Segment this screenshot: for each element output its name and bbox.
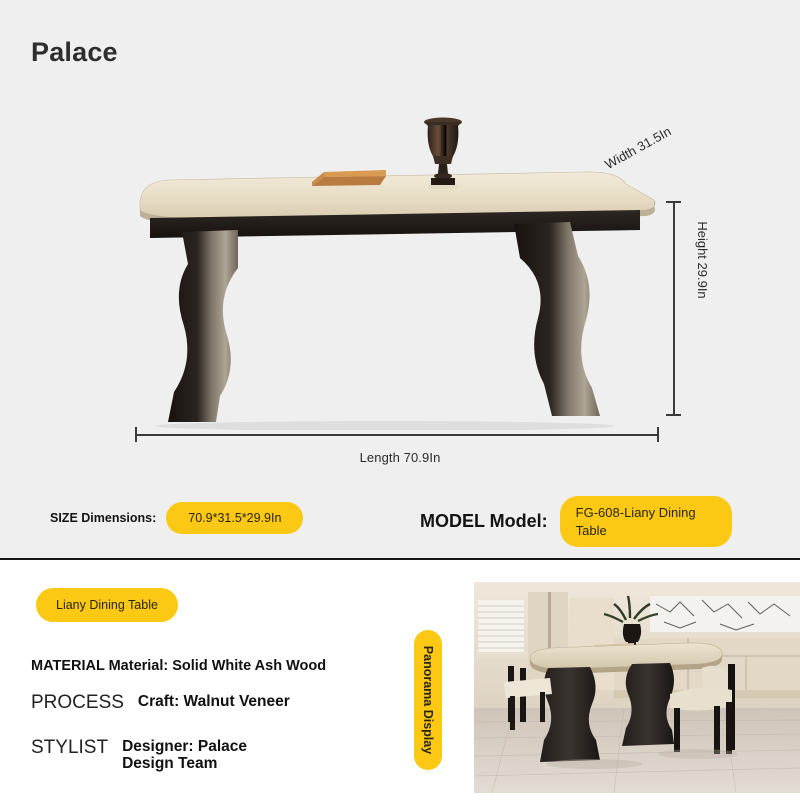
length-dimension-label: Length 70.9In	[0, 450, 800, 465]
stylist-value: Designer: Palace Design Team	[122, 738, 287, 773]
height-dimension-line	[673, 201, 675, 415]
product-photo	[110, 100, 670, 430]
process-value: Craft: Walnut Veneer	[138, 693, 303, 710]
process-key: PROCESS	[31, 693, 124, 713]
stylist-row: STYLIST Designer: Palace Design Team	[31, 738, 287, 773]
spec-badge-row: SIZE Dimensions: 70.9*31.5*29.9In MODEL …	[0, 496, 800, 552]
length-tick-right	[657, 427, 659, 442]
interior-scene-illustration	[474, 582, 800, 793]
panorama-display-badge: Panorama Display	[414, 630, 442, 770]
page-title: Palace	[31, 37, 118, 68]
length-tick-left	[135, 427, 137, 442]
process-row: PROCESS Craft: Walnut Veneer	[31, 693, 303, 713]
dining-table-illustration	[110, 100, 670, 430]
urn-vase-prop	[420, 112, 466, 192]
height-dimension-label: Height 29.9In	[695, 200, 710, 320]
length-dimension-line	[135, 434, 658, 436]
model-spec-value-pill: FG-608-Liany Dining Table	[560, 496, 732, 547]
detail-section: Liany Dining Table MATERIAL Material: So…	[0, 560, 800, 801]
spec-section: Palace	[0, 0, 800, 558]
material-line: MATERIAL Material: Solid White Ash Wood	[31, 658, 326, 674]
height-tick-top	[666, 201, 681, 203]
size-spec-value-pill: 70.9*31.5*29.9In	[166, 502, 303, 534]
stylist-key: STYLIST	[31, 738, 108, 758]
height-tick-bottom	[666, 414, 681, 416]
panorama-photo	[474, 582, 800, 793]
model-spec-group: MODEL Model: FG-608-Liany Dining Table	[420, 496, 732, 547]
product-name-pill: Liany Dining Table	[36, 588, 178, 622]
book-prop	[310, 168, 388, 188]
panorama-display-label: Panorama Display	[421, 646, 435, 754]
size-spec-group: SIZE Dimensions: 70.9*31.5*29.9In	[50, 502, 303, 534]
model-spec-label: MODEL Model:	[420, 511, 548, 532]
product-spec-sheet: Palace	[0, 0, 800, 801]
size-spec-label: SIZE Dimensions:	[50, 511, 156, 525]
